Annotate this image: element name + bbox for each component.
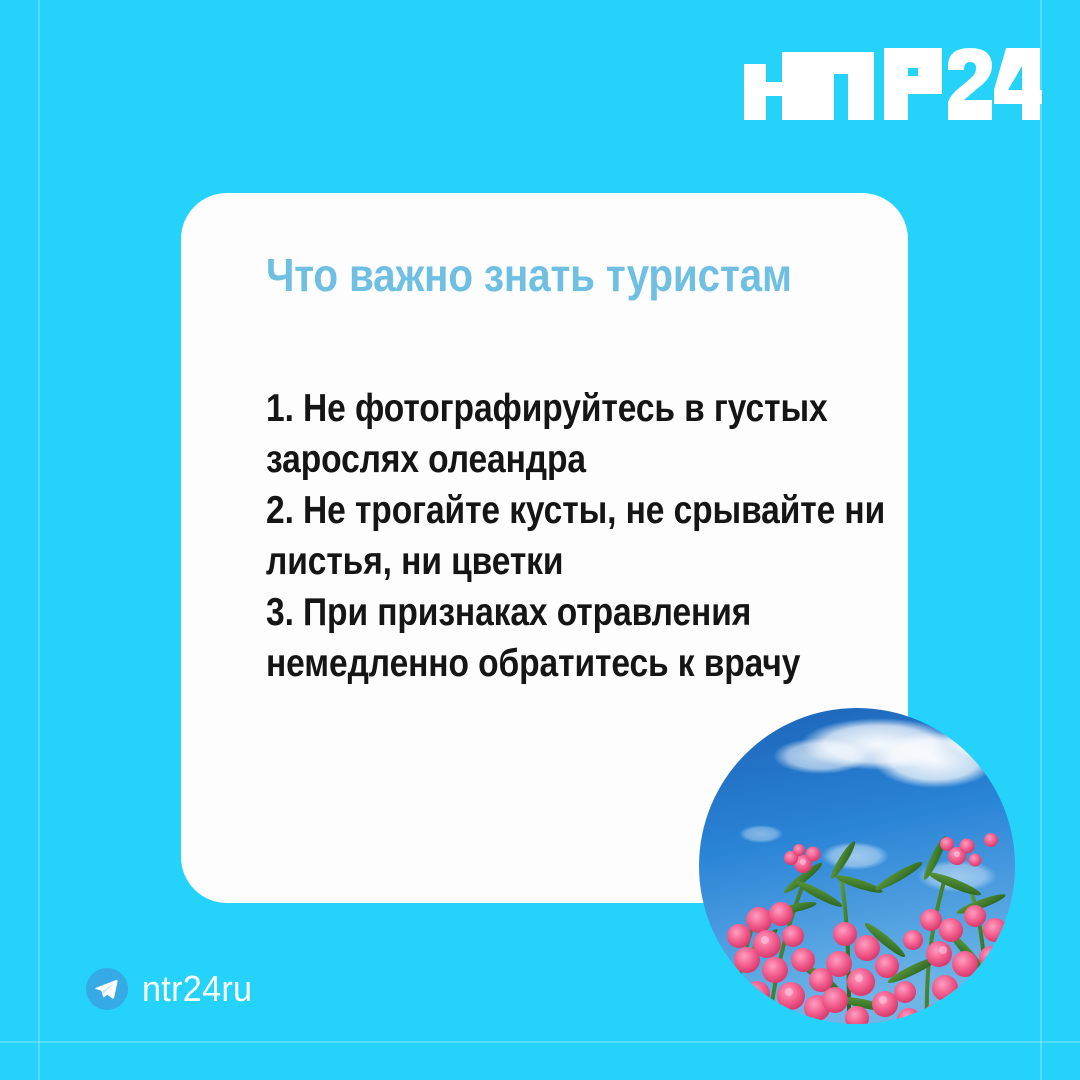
- telegram-footer[interactable]: ntr24ru: [86, 968, 258, 1010]
- ntr24-logo[interactable]: [742, 44, 1042, 120]
- list-item: немедленно обратитесь к врачу: [266, 638, 782, 689]
- list-item: 1. Не фотографируйтесь в густых: [266, 383, 782, 434]
- frame-line-left: [38, 0, 40, 1080]
- frame-line-right: [1040, 0, 1042, 1080]
- poster-canvas: Что важно знать туристам 1. Не фотографи…: [0, 0, 1080, 1080]
- oleander-photo: [699, 708, 1015, 1024]
- frame-line-bottom: [0, 1041, 1080, 1043]
- list-item: зарослях олеандра: [266, 434, 782, 485]
- tips-list: 1. Не фотографируйтесь в густых зарослях…: [266, 383, 866, 689]
- list-item: 2. Не трогайте кусты, не срывайте ни: [266, 485, 782, 536]
- telegram-icon[interactable]: [86, 968, 128, 1010]
- page-title: Что важно знать туристам: [266, 251, 794, 299]
- telegram-handle[interactable]: ntr24ru: [142, 971, 252, 1007]
- list-item: листья, ни цветки: [266, 536, 782, 587]
- list-item: 3. При признаках отравления: [266, 587, 782, 638]
